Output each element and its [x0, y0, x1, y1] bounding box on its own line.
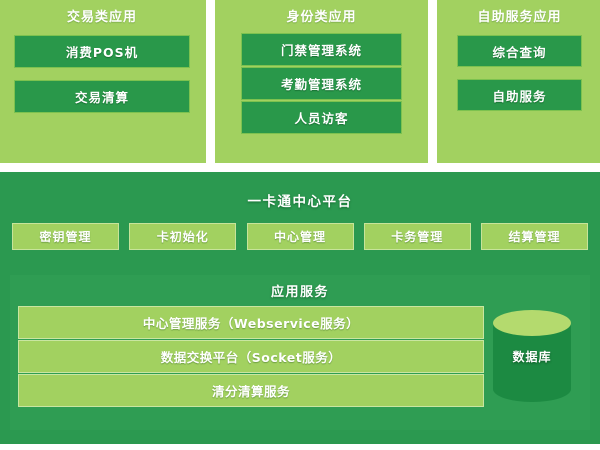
module-card-service-management[interactable]: 卡务管理	[364, 223, 471, 250]
application-panel-identity[interactable]: 身份类应用 门禁管理系统 考勤管理系统 人员访客	[215, 0, 428, 163]
panel-title-identity: 身份类应用	[241, 8, 402, 28]
center-platform-modules-row: 密钥管理 卡初始化 中心管理 卡务管理 结算管理	[0, 210, 600, 250]
application-panel-self-service[interactable]: 自助服务应用 综合查询 自助服务	[437, 0, 600, 163]
module-card-initialization[interactable]: 卡初始化	[129, 223, 236, 250]
service-data-exchange-socket[interactable]: 数据交换平台（Socket服务）	[18, 340, 484, 373]
app-item-personnel-visitor[interactable]: 人员访客	[241, 101, 402, 134]
center-platform-title: 一卡通中心平台	[0, 172, 600, 210]
service-clearing-settlement[interactable]: 清分清算服务	[18, 374, 484, 407]
application-services-body: 中心管理服务（Webservice服务） 数据交换平台（Socket服务） 清分…	[10, 300, 590, 408]
application-services-block: 应用服务 中心管理服务（Webservice服务） 数据交换平台（Socket服…	[10, 275, 590, 430]
module-center-management[interactable]: 中心管理	[247, 223, 354, 250]
application-services-list: 中心管理服务（Webservice服务） 数据交换平台（Socket服务） 清分…	[18, 306, 484, 408]
panel-title-self-service: 自助服务应用	[457, 8, 582, 28]
app-item-pos-machine[interactable]: 消费POS机	[14, 35, 190, 68]
app-item-access-control-system[interactable]: 门禁管理系统	[241, 33, 402, 66]
application-panel-transaction[interactable]: 交易类应用 消费POS机 交易清算	[0, 0, 206, 163]
database-label: 数据库	[493, 348, 571, 365]
app-item-transaction-settlement[interactable]: 交易清算	[14, 80, 190, 113]
module-settlement-management[interactable]: 结算管理	[481, 223, 588, 250]
database-cylinder-top	[493, 310, 571, 336]
app-item-self-service[interactable]: 自助服务	[457, 79, 582, 111]
center-platform-section: 一卡通中心平台 密钥管理 卡初始化 中心管理 卡务管理 结算管理 应用服务 中心…	[0, 172, 600, 444]
application-services-title: 应用服务	[10, 275, 590, 300]
database-wrapper: 数据库	[484, 306, 580, 402]
database-cylinder-icon[interactable]: 数据库	[493, 310, 571, 402]
architecture-diagram: 交易类应用 消费POS机 交易清算 身份类应用 门禁管理系统 考勤管理系统 人员…	[0, 0, 600, 450]
application-panels-row: 交易类应用 消费POS机 交易清算 身份类应用 门禁管理系统 考勤管理系统 人员…	[0, 0, 600, 163]
service-center-management-webservice[interactable]: 中心管理服务（Webservice服务）	[18, 306, 484, 339]
panel-title-transaction: 交易类应用	[14, 8, 190, 28]
app-item-comprehensive-query[interactable]: 综合查询	[457, 35, 582, 67]
app-item-attendance-system[interactable]: 考勤管理系统	[241, 67, 402, 100]
module-key-management[interactable]: 密钥管理	[12, 223, 119, 250]
